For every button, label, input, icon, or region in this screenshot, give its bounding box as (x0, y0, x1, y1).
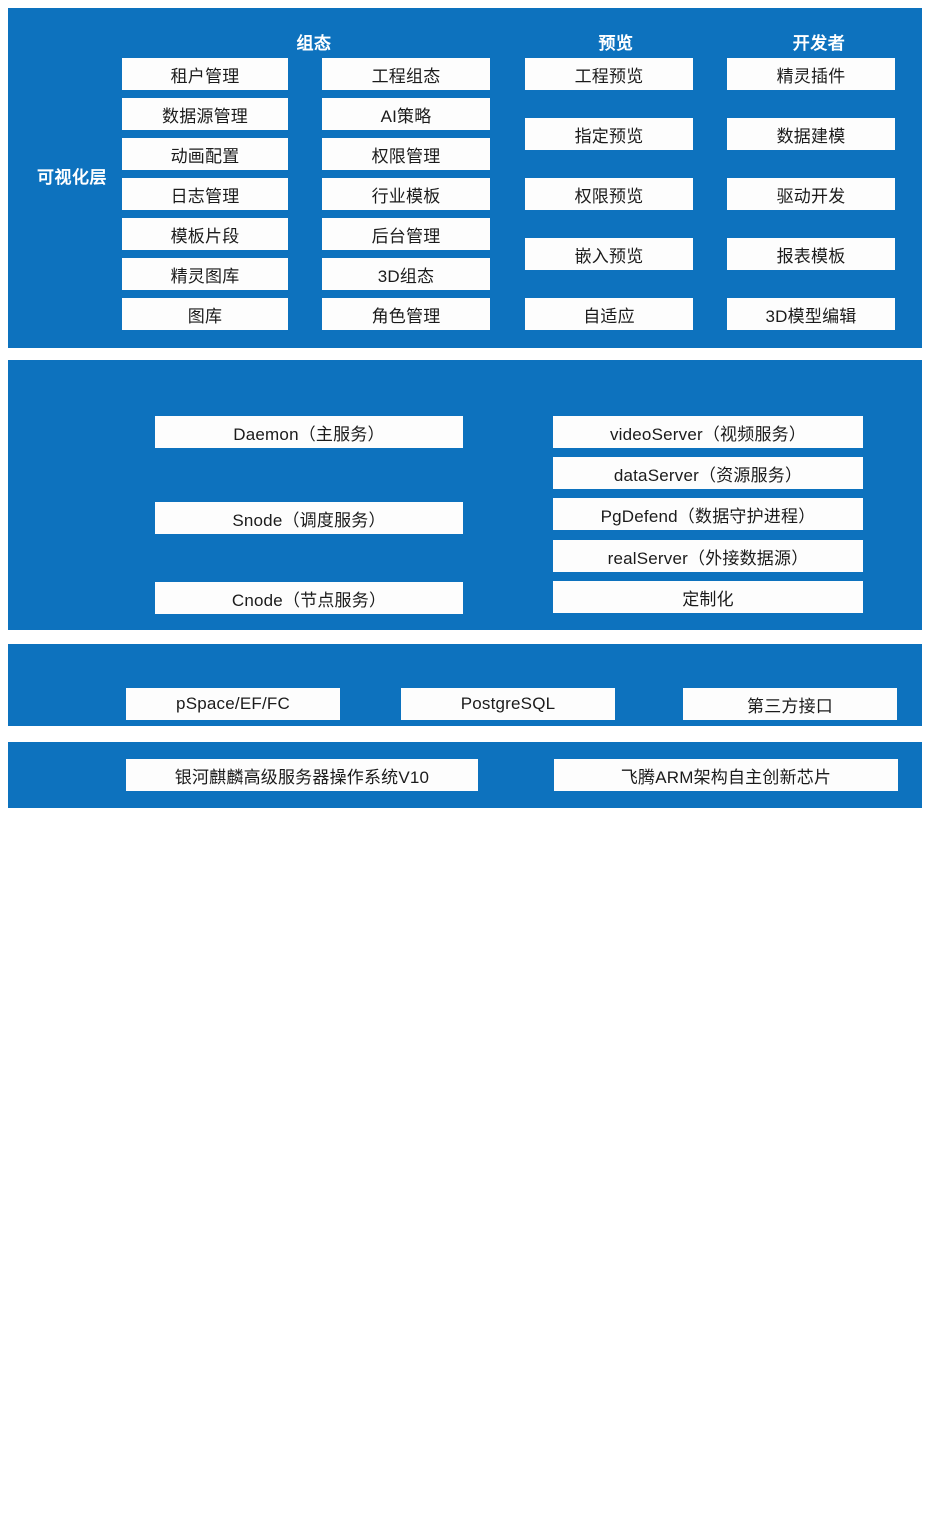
chip-item[interactable]: 精灵图库 (122, 258, 288, 290)
chip-item[interactable]: PostgreSQL (401, 688, 615, 720)
chip-item[interactable]: 第三方接口 (683, 688, 897, 720)
layer-label-data: 服务层 (18, 1323, 126, 1348)
chip-item[interactable]: 工程预览 (525, 58, 693, 90)
chip-item[interactable]: 角色管理 (322, 298, 490, 330)
chip-item[interactable]: 租户管理 (122, 58, 288, 90)
chip-item[interactable]: 报表模板 (727, 238, 895, 270)
chip-item[interactable]: 3D模型编辑 (727, 298, 895, 330)
group-heading-configuration: 组态 (214, 29, 414, 54)
chip-item[interactable]: 银河麒麟高级服务器操作系统V10 (126, 759, 478, 791)
chip-item[interactable]: Cnode（节点服务） (155, 582, 463, 614)
chip-item[interactable]: 指定预览 (525, 118, 693, 150)
layer-label-service: 服务层 (18, 842, 126, 867)
chip-item[interactable]: 飞腾ARM架构自主创新芯片 (554, 759, 898, 791)
chip-item[interactable]: 数据源管理 (122, 98, 288, 130)
chip-item[interactable]: 后台管理 (322, 218, 490, 250)
group-heading-relational: 关系库数据 (432, 1299, 602, 1324)
chip-item[interactable]: videoServer（视频服务） (553, 416, 863, 448)
chip-item[interactable]: pSpace/EF/FC (126, 688, 340, 720)
layer-label-visualization: 可视化层 (18, 163, 126, 188)
architecture-diagram: 可视化层 组态 预览 开发者 租户管理 数据源管理 动画配置 日志管理 模板片段… (0, 0, 930, 817)
chip-item[interactable]: 嵌入预览 (525, 238, 693, 270)
group-heading-custom: 定制数据 (720, 1299, 860, 1324)
layer-label-support: 支撑层 (18, 1506, 126, 1531)
layer-support: 支撑层 银河麒麟高级服务器操作系统V10 飞腾ARM架构自主创新芯片 (8, 742, 922, 808)
chip-item[interactable]: 定制化 (553, 581, 863, 613)
layer-visualization: 可视化层 组态 预览 开发者 租户管理 数据源管理 动画配置 日志管理 模板片段… (8, 8, 922, 348)
chip-item[interactable]: 3D组态 (322, 258, 490, 290)
group-heading-developer: 开发者 (760, 29, 878, 54)
chip-item[interactable]: PgDefend（数据守护进程） (553, 498, 863, 530)
chip-item[interactable]: 模板片段 (122, 218, 288, 250)
chip-item[interactable]: 驱动开发 (727, 178, 895, 210)
chip-item[interactable]: Snode（调度服务） (155, 502, 463, 534)
chip-item[interactable]: 数据建模 (727, 118, 895, 150)
chip-item[interactable]: 动画配置 (122, 138, 288, 170)
chip-item[interactable]: realServer（外接数据源） (553, 540, 863, 572)
chip-item[interactable]: AI策略 (322, 98, 490, 130)
chip-item[interactable]: dataServer（资源服务） (553, 457, 863, 489)
layer-service: 服务层 系统服务 业务服务 Daemon（主服务） Snode（调度服务） Cn… (8, 360, 922, 630)
group-heading-realtime-history: 实时历史数据 (158, 1299, 328, 1324)
chip-item[interactable]: 日志管理 (122, 178, 288, 210)
layer-data: 服务层 实时历史数据 关系库数据 定制数据 pSpace/EF/FC Postg… (8, 644, 922, 726)
chip-item[interactable]: 权限管理 (322, 138, 490, 170)
chip-item[interactable]: Daemon（主服务） (155, 416, 463, 448)
chip-item[interactable]: 图库 (122, 298, 288, 330)
chip-item[interactable]: 工程组态 (322, 58, 490, 90)
chip-item[interactable]: 精灵插件 (727, 58, 895, 90)
chip-item[interactable]: 行业模板 (322, 178, 490, 210)
chip-item[interactable]: 权限预览 (525, 178, 693, 210)
chip-item[interactable]: 自适应 (525, 298, 693, 330)
group-heading-preview: 预览 (566, 29, 666, 54)
